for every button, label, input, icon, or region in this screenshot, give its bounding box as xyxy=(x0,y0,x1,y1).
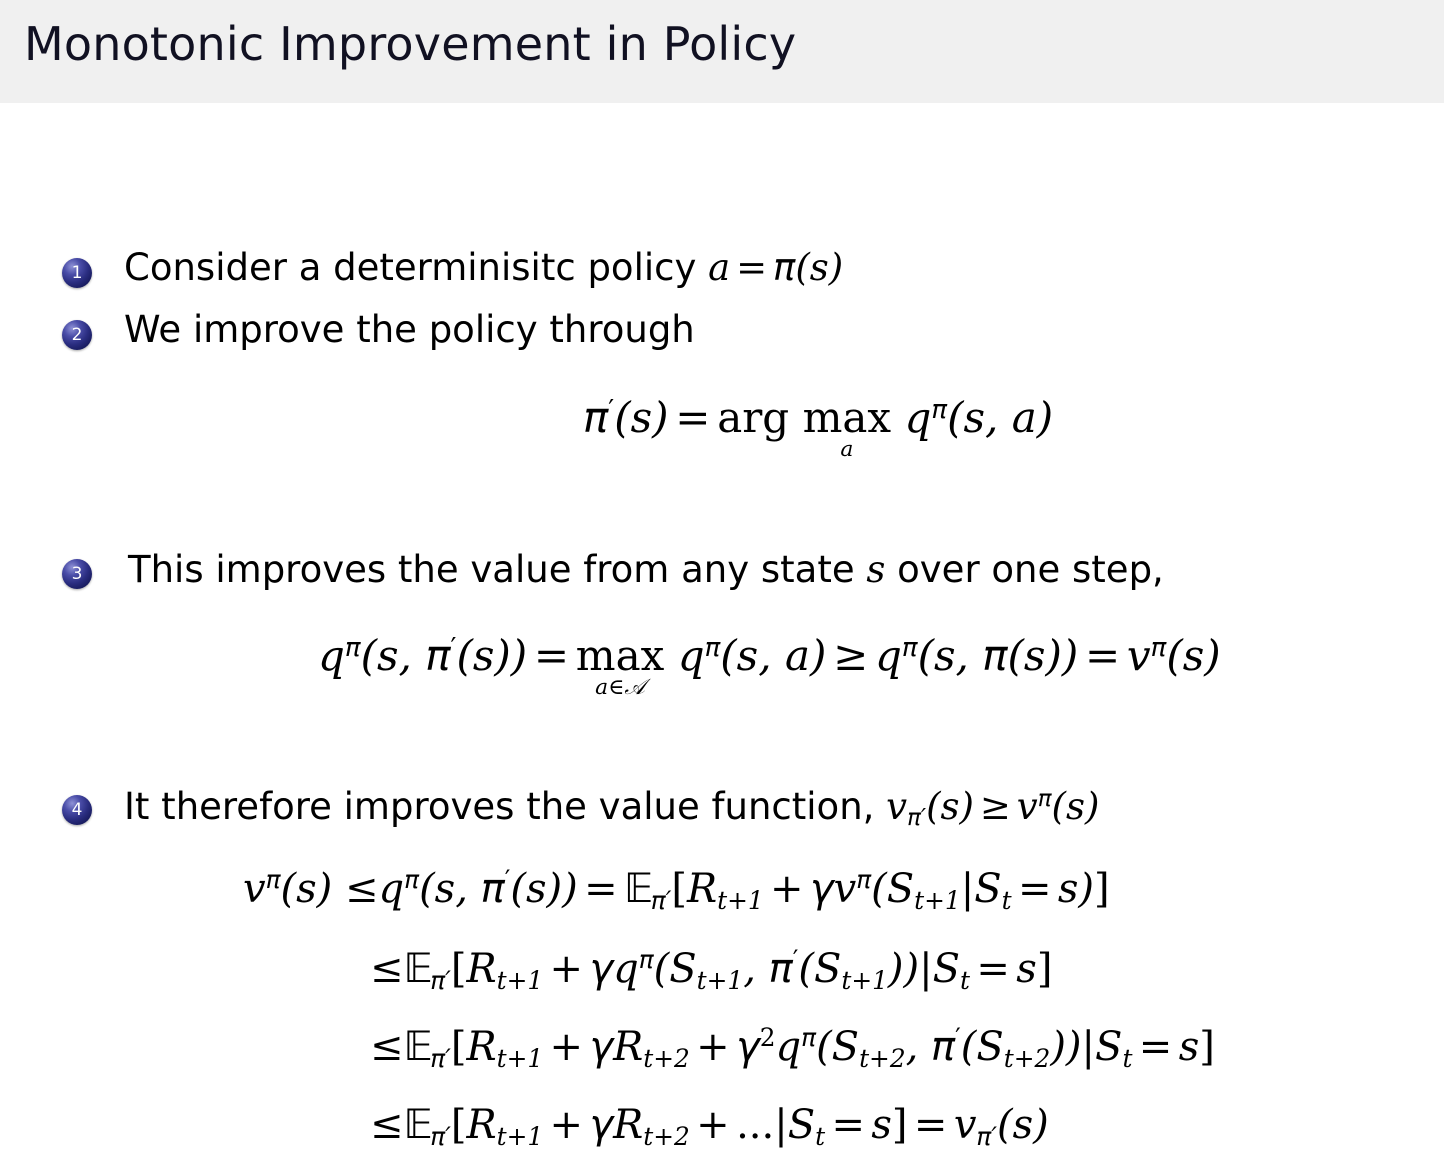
bullet-1-text: Consider a determinisitc policy xyxy=(124,246,696,289)
derivation-line-2: ≤𝔼π′[Rt+1+γqπ(St+1, π′(St+1))|St=s] xyxy=(370,946,1052,992)
bullet-4-inline-math: vπ′(s)≥vπ(s) xyxy=(886,785,1099,828)
bullet-item-2: We improve the policy through xyxy=(124,311,695,350)
bullet-item-4: It therefore improves the value function… xyxy=(124,788,1099,827)
slide-header-banner: Monotonic Improvement in Policy xyxy=(0,0,1444,103)
derivation-line-4: ≤𝔼π′[Rt+1+γRt+2+...|St=s]=vπ′(s) xyxy=(370,1102,1049,1148)
bullet-3-state-variable: s xyxy=(866,548,885,591)
bullet-4-text: It therefore improves the value function… xyxy=(124,785,874,828)
bullet-marker-2: 2 xyxy=(62,320,92,350)
bullet-marker-3: 3 xyxy=(62,559,92,589)
bullet-marker-4: 4 xyxy=(62,795,92,825)
bullet-marker-1: 1 xyxy=(62,258,92,288)
equation-2-one-step-improvement: qπ(s, π′(s))=maxa∈𝒜 qπ(s, a)≥qπ(s, π(s))… xyxy=(318,631,1221,680)
page-title: Monotonic Improvement in Policy xyxy=(24,17,796,71)
bullet-3-text-post: over one step, xyxy=(897,548,1164,591)
bullet-item-1: Consider a determinisitc policy a=π(s) xyxy=(124,249,843,288)
slide-body: 1 Consider a determinisitc policy a=π(s)… xyxy=(0,103,1444,1080)
bullet-item-3: This improves the value from any state s… xyxy=(128,551,1164,590)
equation-1-policy-improvement: π′(s)=arg maxa qπ(s, a) xyxy=(583,393,1053,442)
bullet-1-inline-math: a=π(s) xyxy=(708,246,843,289)
derivation-line-1: vπ(s) ≤qπ(s, π′(s))=𝔼π′[Rt+1+γvπ(St+1|St… xyxy=(243,866,1110,912)
bullet-3-text-pre: This improves the value from any state xyxy=(128,548,855,591)
derivation-line-3: ≤𝔼π′[Rt+1+γRt+2+γ2qπ(St+2, π′(St+2))|St=… xyxy=(370,1024,1215,1070)
